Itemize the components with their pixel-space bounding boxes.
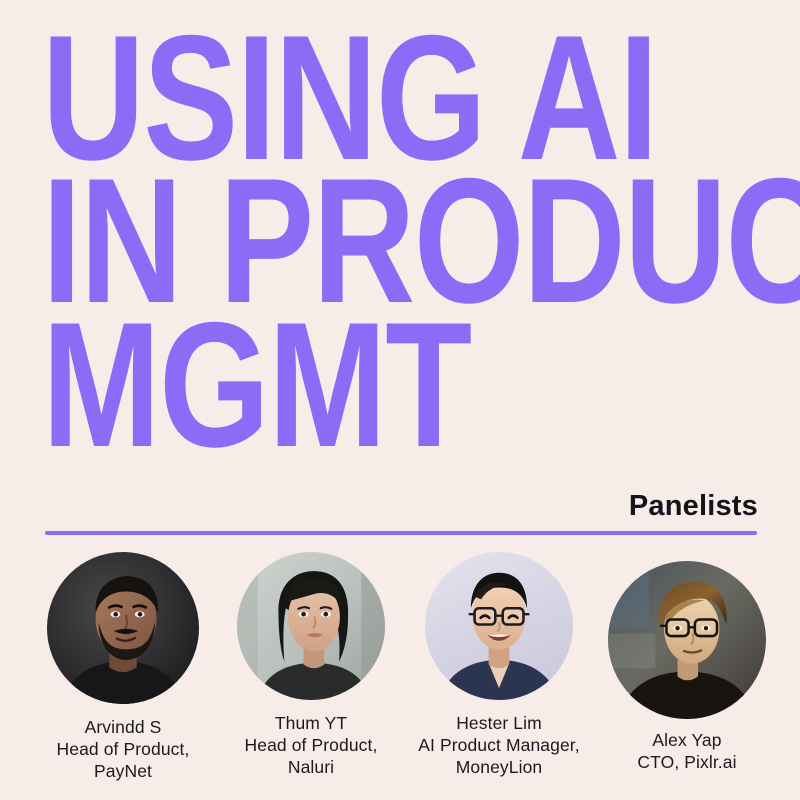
title-line-3: MGMT bbox=[42, 317, 626, 452]
panelist-caption: Thum YT Head of Product, Naluri bbox=[245, 712, 378, 778]
panelist-card: Hester Lim AI Product Manager, MoneyLion bbox=[405, 552, 593, 778]
panelists-divider bbox=[45, 531, 757, 535]
panelist-name: Thum YT bbox=[245, 712, 378, 734]
panelist-role: Head of Product, bbox=[245, 734, 378, 756]
panelist-role: CTO, Pixlr.ai bbox=[637, 751, 736, 773]
panelist-caption: Alex Yap CTO, Pixlr.ai bbox=[637, 729, 736, 773]
panelist-caption: Arvindd S Head of Product, PayNet bbox=[57, 716, 190, 782]
avatar-hester-lim bbox=[425, 552, 573, 700]
poster-canvas: USING AI IN PRODUCT MGMT Panelists bbox=[0, 0, 800, 800]
panelists-header: Panelists bbox=[42, 492, 758, 521]
panelist-role: Head of Product, bbox=[57, 738, 190, 760]
panelist-name: Hester Lim bbox=[418, 712, 579, 734]
panelist-role: AI Product Manager, bbox=[418, 734, 579, 756]
panelist-company: Naluri bbox=[245, 756, 378, 778]
panelist-company: MoneyLion bbox=[418, 756, 579, 778]
avatar-thum-yt bbox=[237, 552, 385, 700]
panelist-company: PayNet bbox=[57, 760, 190, 782]
panelist-caption: Hester Lim AI Product Manager, MoneyLion bbox=[418, 712, 579, 778]
panelists-list: Arvindd S Head of Product, PayNet bbox=[0, 552, 800, 782]
panelist-card: Alex Yap CTO, Pixlr.ai bbox=[593, 561, 781, 773]
avatar-arvindd-s bbox=[47, 552, 199, 704]
panelist-name: Arvindd S bbox=[57, 716, 190, 738]
panelists-label: Panelists bbox=[629, 492, 758, 521]
panelist-name: Alex Yap bbox=[637, 729, 736, 751]
avatar-alex-yap bbox=[608, 561, 766, 719]
panelist-card: Thum YT Head of Product, Naluri bbox=[217, 552, 405, 778]
poster-title: USING AI IN PRODUCT MGMT bbox=[42, 30, 772, 452]
panelist-card: Arvindd S Head of Product, PayNet bbox=[29, 552, 217, 782]
